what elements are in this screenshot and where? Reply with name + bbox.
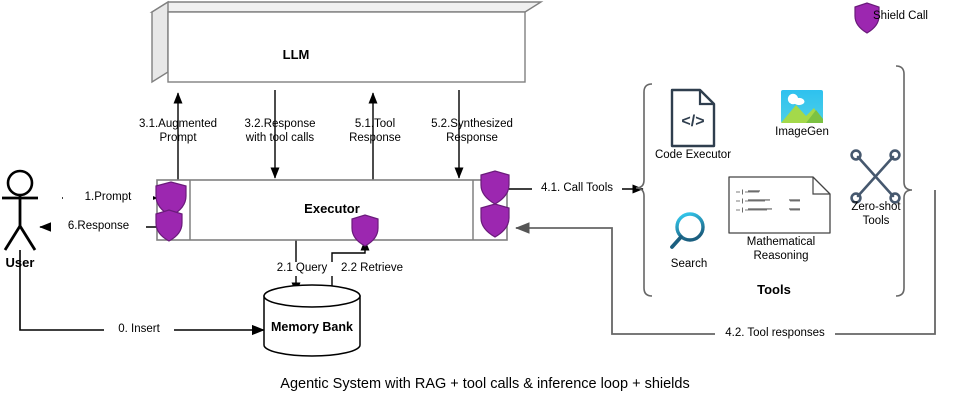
edge-label-prompt: 1.Prompt	[63, 191, 153, 205]
code-document-icon: </>	[672, 90, 714, 146]
diagram-caption: Agentic System with RAG + tool calls & i…	[0, 376, 970, 392]
tools-group-label: Tools	[714, 283, 834, 297]
crossed-wrenches-icon	[852, 151, 900, 203]
user-label: User	[0, 256, 60, 270]
connector-layer: </>	[0, 0, 970, 411]
edge-label-response: 6.Response	[51, 220, 146, 234]
llm-label: LLM	[246, 48, 346, 62]
edge-label-augmented-prompt: 3.1.Augmented Prompt	[133, 118, 223, 145]
edge-label-insert: 0. Insert	[104, 323, 174, 337]
executor-label: Executor	[272, 202, 392, 216]
memory-bank-label: Memory Bank	[252, 321, 372, 335]
llm-box-3d	[152, 2, 541, 82]
tool-label-code-executor: Code Executor	[638, 149, 748, 163]
image-icon	[781, 90, 823, 123]
edge-label-call-tools: 4.1. Call Tools	[532, 182, 622, 196]
tools-right-brace	[896, 66, 912, 296]
tool-label-search: Search	[649, 258, 729, 272]
edge-label-response-with-tool-calls: 3.2.Response with tool calls	[230, 118, 330, 145]
edge-label-tool-responses: 4.2. Tool responses	[715, 327, 835, 341]
edge-label-synthesized-response: 5.2.Synthesized Response	[422, 118, 522, 145]
svg-text:</>: </>	[681, 113, 704, 130]
edge-label-retrieve: 2.2 Retrieve	[332, 262, 412, 276]
magnifier-icon	[672, 214, 703, 247]
user-stick-figure	[2, 171, 38, 250]
edge-label-tool-response: 5.1.Tool Response	[335, 118, 415, 145]
tool-label-zero-shot: Zero-shot Tools	[831, 201, 921, 228]
edge-label-query: 2.1 Query	[267, 262, 337, 276]
shield-icon-exec-bottom	[352, 215, 378, 246]
tool-label-imagegen: ImageGen	[752, 126, 852, 140]
legend-shield-label: Shield Call	[873, 10, 953, 24]
formula-document-icon	[729, 177, 830, 233]
tool-label-math-reasoning: Mathematical Reasoning	[726, 236, 836, 263]
